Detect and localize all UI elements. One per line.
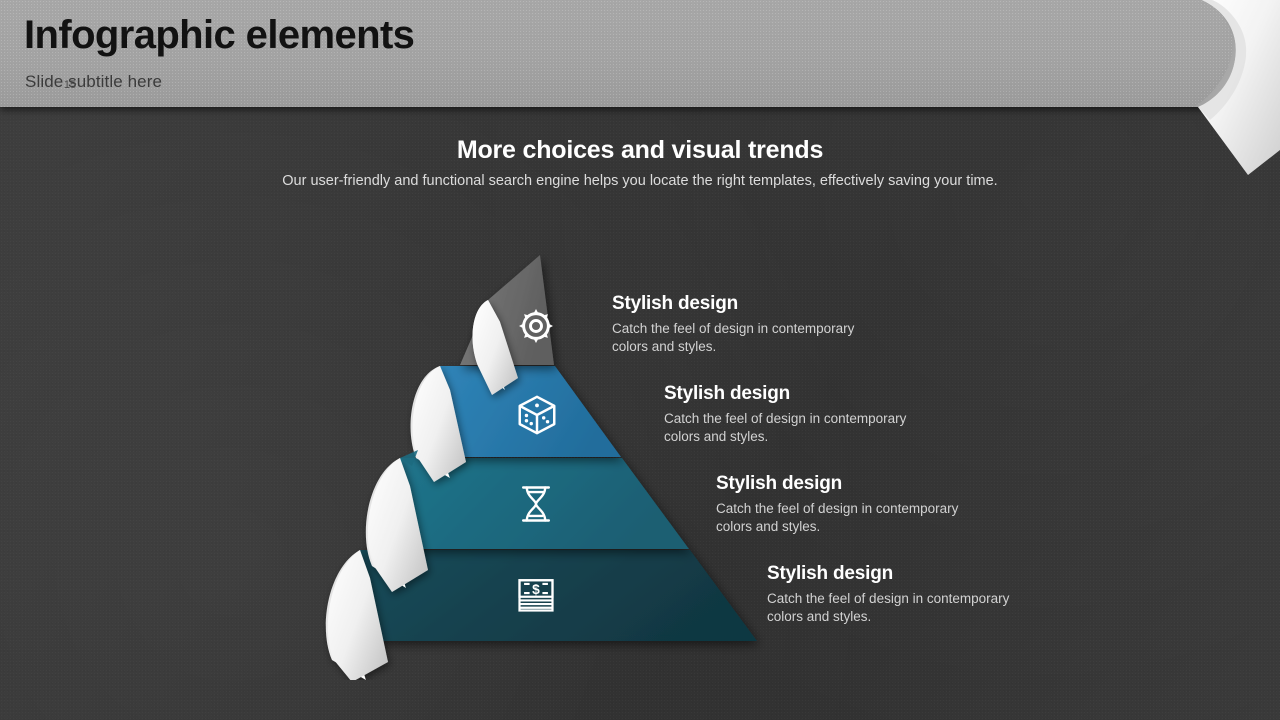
page-title: Infographic elements bbox=[24, 14, 414, 56]
level-4-description: Catch the feel of design in contemporary… bbox=[767, 590, 1027, 626]
level-3-title: Stylish design bbox=[716, 473, 976, 495]
page-number: 15 bbox=[58, 79, 82, 91]
page-curl-icon bbox=[1180, 0, 1280, 175]
level-1-text-block: Stylish design Catch the feel of design … bbox=[612, 293, 872, 356]
level-1-description: Catch the feel of design in contemporary… bbox=[612, 320, 872, 356]
level-2-text-block: Stylish design Catch the feel of design … bbox=[664, 383, 924, 446]
gear-icon bbox=[514, 304, 568, 358]
level-4-text-block: Stylish design Catch the feel of design … bbox=[767, 563, 1027, 626]
center-description: Our user-friendly and functional search … bbox=[240, 172, 1040, 191]
hourglass-icon bbox=[514, 482, 568, 536]
level-2-title: Stylish design bbox=[664, 383, 924, 405]
page-subtitle: Slide subtitle here bbox=[25, 72, 162, 92]
svg-text:$: $ bbox=[532, 582, 540, 597]
level-3-text-block: Stylish design Catch the feel of design … bbox=[716, 473, 976, 536]
center-heading-block: More choices and visual trends Our user-… bbox=[240, 136, 1040, 191]
center-title: More choices and visual trends bbox=[240, 136, 1040, 165]
dice-cube-icon bbox=[514, 392, 568, 446]
slide-header: Infographic elements Slide subtitle here bbox=[0, 0, 1280, 107]
level-1-title: Stylish design bbox=[612, 293, 872, 315]
slide-canvas: Infographic elements Slide subtitle here… bbox=[0, 0, 1280, 720]
level-3-description: Catch the feel of design in contemporary… bbox=[716, 500, 976, 536]
level-2-description: Catch the feel of design in contemporary… bbox=[664, 410, 924, 446]
money-document-icon: $ bbox=[514, 572, 568, 626]
level-4-title: Stylish design bbox=[767, 563, 1027, 585]
